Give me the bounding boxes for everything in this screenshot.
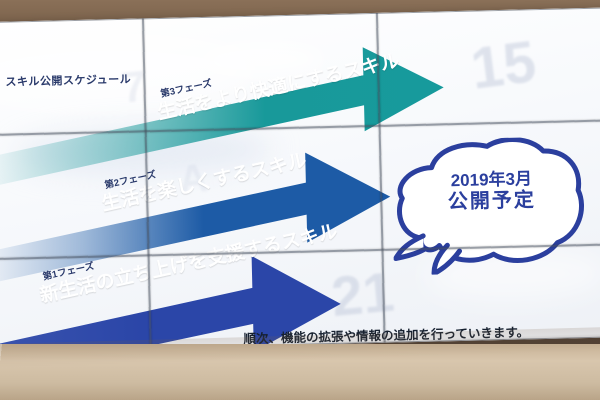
callout-line-2: 公開予定 — [424, 189, 560, 216]
release-callout-text: 2019年3月 公開予定 — [424, 169, 560, 216]
video-wall: 7 A 15 21 スキル公開スケジュール — [0, 7, 600, 352]
video-wall-screen: 7 A 15 21 スキル公開スケジュール — [0, 7, 600, 352]
photo-scene: 7 A 15 21 スキル公開スケジュール — [0, 0, 600, 400]
lower-wall — [0, 344, 600, 400]
